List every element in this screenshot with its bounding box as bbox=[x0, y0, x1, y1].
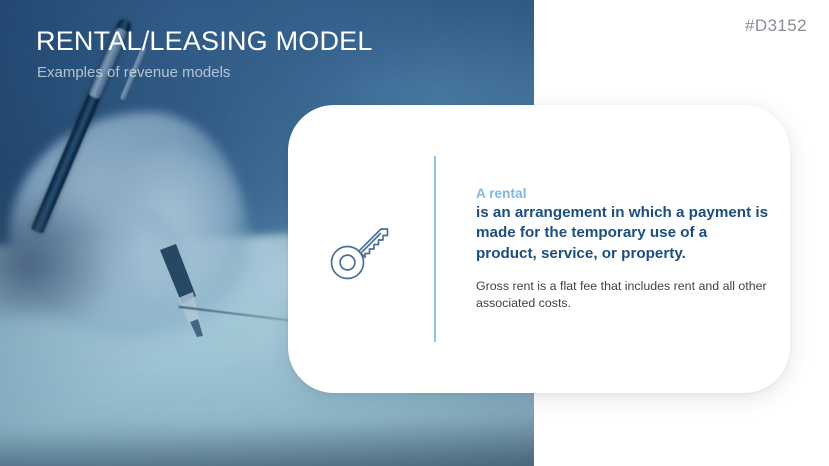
icon-column bbox=[288, 212, 434, 286]
text-column: A rental is an arrangement in which a pa… bbox=[436, 186, 790, 312]
key-icon bbox=[324, 212, 398, 286]
page-subtitle: Examples of revenue models bbox=[37, 64, 230, 81]
slide-code-label: #D3152 bbox=[745, 16, 807, 36]
card-eyebrow: A rental bbox=[476, 186, 772, 201]
content-card: A rental is an arrangement in which a pa… bbox=[288, 105, 790, 393]
card-headline: is an arrangement in which a payment is … bbox=[476, 203, 772, 264]
slide-canvas: RENTAL/LEASING MODEL Examples of revenue… bbox=[0, 0, 829, 466]
page-title: RENTAL/LEASING MODEL bbox=[36, 26, 373, 57]
card-body-text: Gross rent is a flat fee that includes r… bbox=[476, 278, 772, 312]
